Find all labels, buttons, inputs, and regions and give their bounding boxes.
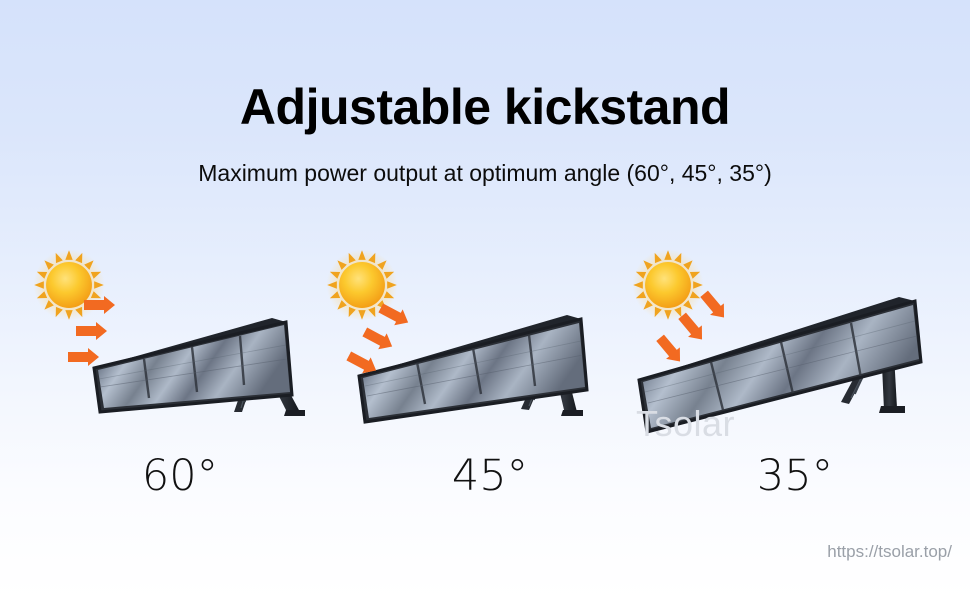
page-title: Adjustable kickstand (0, 82, 970, 132)
angle-label-45: 45° (420, 455, 560, 498)
page-subtitle: Maximum power output at optimum angle (6… (0, 162, 970, 185)
poster-canvas: Adjustable kickstand Maximum power outpu… (0, 0, 970, 600)
solar-panel-icon (10, 240, 330, 440)
solar-panel-icon (315, 240, 635, 440)
site-url-label: https://tsolar.top/ (827, 543, 952, 560)
panel-unit-60 (10, 240, 330, 440)
sunlight-arrow-icon (68, 296, 115, 366)
brand-watermark: Tsolar (636, 406, 735, 442)
angle-label-60: 60° (110, 455, 250, 498)
panel-unit-45 (315, 240, 635, 440)
angle-label-35: 35° (725, 455, 865, 498)
